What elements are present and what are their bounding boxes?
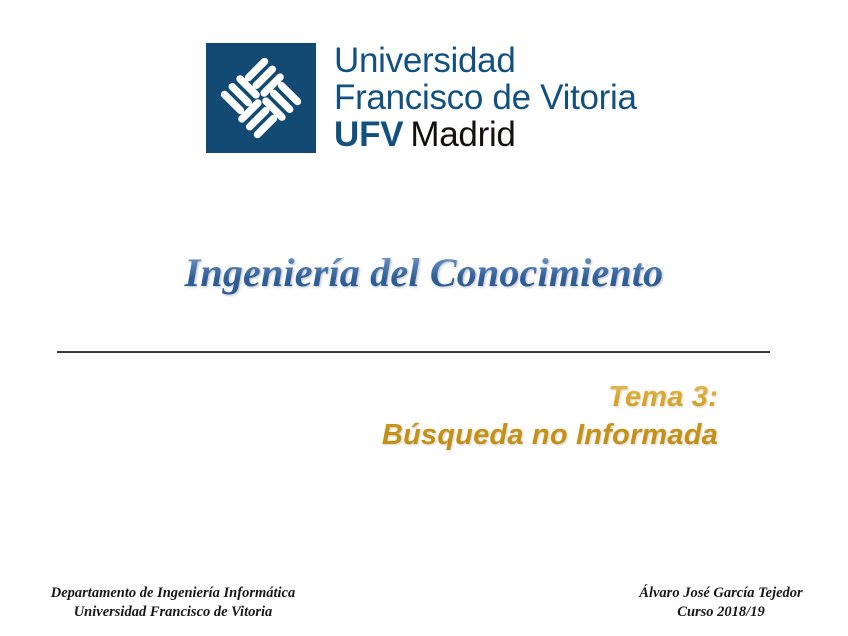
footer-author: Álvaro José García Tejedor Curso 2018/19 bbox=[606, 584, 836, 622]
footer-author-name: Álvaro José García Tejedor bbox=[606, 584, 836, 603]
topic-subtitle: Tema 3: Búsqueda no Informada bbox=[0, 378, 718, 454]
title-slide: Universidad Francisco de Vitoria UFVMadr… bbox=[0, 0, 848, 636]
university-logo: Universidad Francisco de Vitoria UFVMadr… bbox=[206, 43, 637, 153]
footer-department-line1: Departamento de Ingeniería Informática bbox=[14, 584, 332, 603]
horizontal-divider bbox=[57, 351, 770, 353]
logo-acronym-ufv: UFV bbox=[334, 115, 403, 154]
footer-academic-year: Curso 2018/19 bbox=[606, 603, 836, 622]
logo-city-madrid: Madrid bbox=[410, 115, 515, 154]
topic-number: Tema 3: bbox=[0, 378, 718, 416]
topic-name: Búsqueda no Informada bbox=[0, 416, 718, 454]
footer-department: Departamento de Ingeniería Informática U… bbox=[14, 584, 332, 622]
logo-line-francisco-de-vitoria: Francisco de Vitoria bbox=[334, 80, 637, 116]
logo-line-universidad: Universidad bbox=[334, 43, 637, 79]
logo-line-ufv-madrid: UFVMadrid bbox=[334, 117, 637, 153]
university-logo-wordmark: Universidad Francisco de Vitoria UFVMadr… bbox=[334, 43, 637, 153]
ufv-woven-diamond-logo-icon bbox=[206, 43, 316, 153]
course-title: Ingeniería del Conocimiento bbox=[0, 249, 848, 296]
footer-department-line2: Universidad Francisco de Vitoria bbox=[14, 603, 332, 622]
